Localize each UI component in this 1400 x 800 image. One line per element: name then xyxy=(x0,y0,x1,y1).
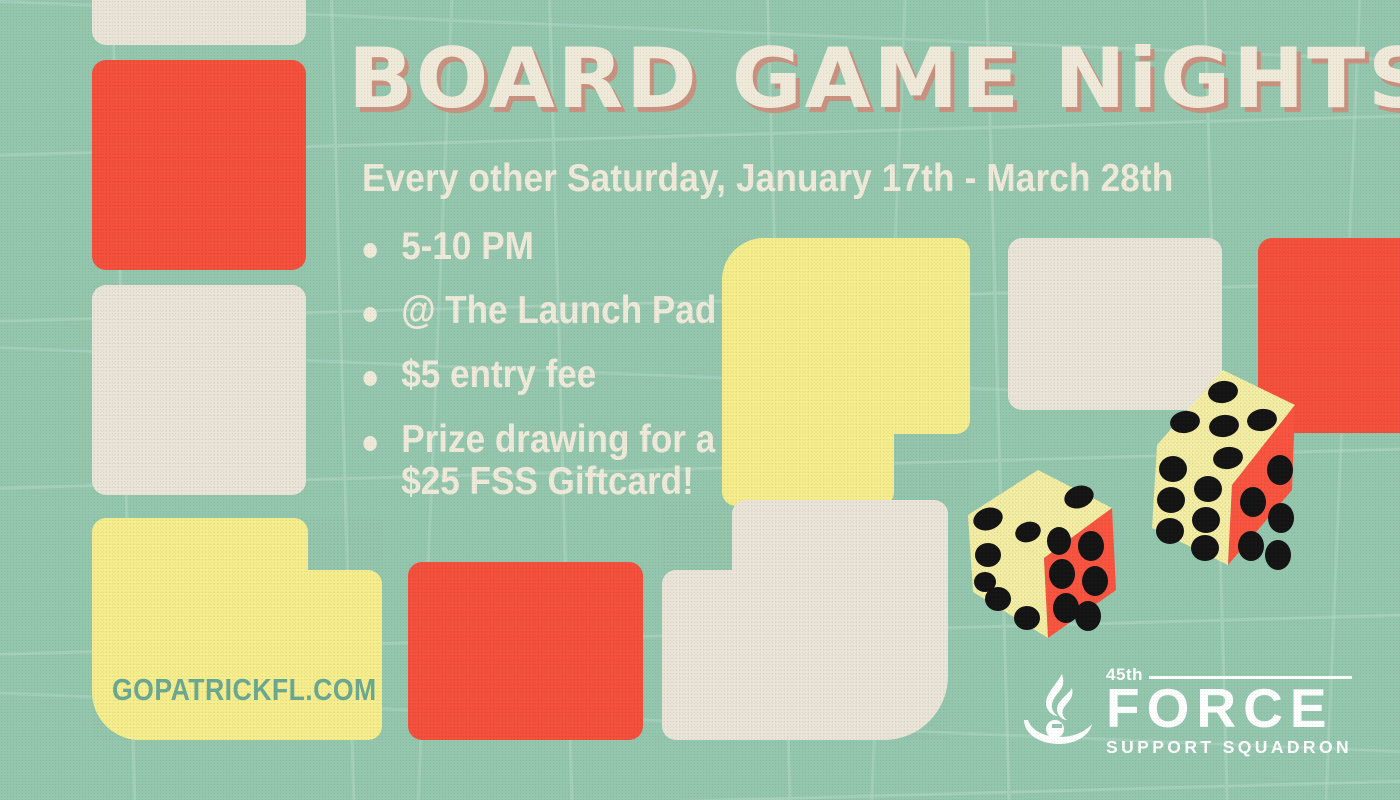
block-cream-mid-left xyxy=(92,285,306,495)
fss-logo-subtitle: SUPPORT SQUADRON xyxy=(1106,737,1352,758)
poster-subtitle: Every other Saturday, January 17th - Mar… xyxy=(362,159,1186,200)
die-back xyxy=(1152,370,1295,570)
poster-canvas: BOARD GAME NiGHTS Every other Saturday, … xyxy=(0,0,1400,800)
bullet-line-1: 5-10 PM xyxy=(401,225,534,268)
bullet-line-1: $5 entry fee xyxy=(401,353,596,396)
fss-logo-text: 45th FORCE SUPPORT SQUADRON xyxy=(1106,666,1352,759)
bullet-line-1: Prize drawing for a xyxy=(401,418,715,461)
fss-logo: 45th FORCE SUPPORT SQUADRON xyxy=(1022,666,1352,759)
list-item: @ The Launch Pad xyxy=(358,290,1186,332)
page-title: BOARD GAME NiGHTS xyxy=(348,38,1306,119)
website-url[interactable]: GOPATRICKFL.COM xyxy=(112,672,377,708)
bullet-line-1: @ The Launch Pad xyxy=(401,289,716,332)
flame-swoosh-icon xyxy=(1022,672,1094,752)
block-cream-top-left xyxy=(92,0,306,45)
block-red-upper-left xyxy=(92,60,306,270)
die-front xyxy=(968,470,1116,638)
two-dice-icon xyxy=(940,350,1340,670)
block-cream-bottom-center xyxy=(662,500,948,740)
list-item: 5-10 PM xyxy=(358,226,1186,268)
block-red-bottom-center xyxy=(408,562,643,740)
fss-logo-name: FORCE xyxy=(1106,684,1352,734)
